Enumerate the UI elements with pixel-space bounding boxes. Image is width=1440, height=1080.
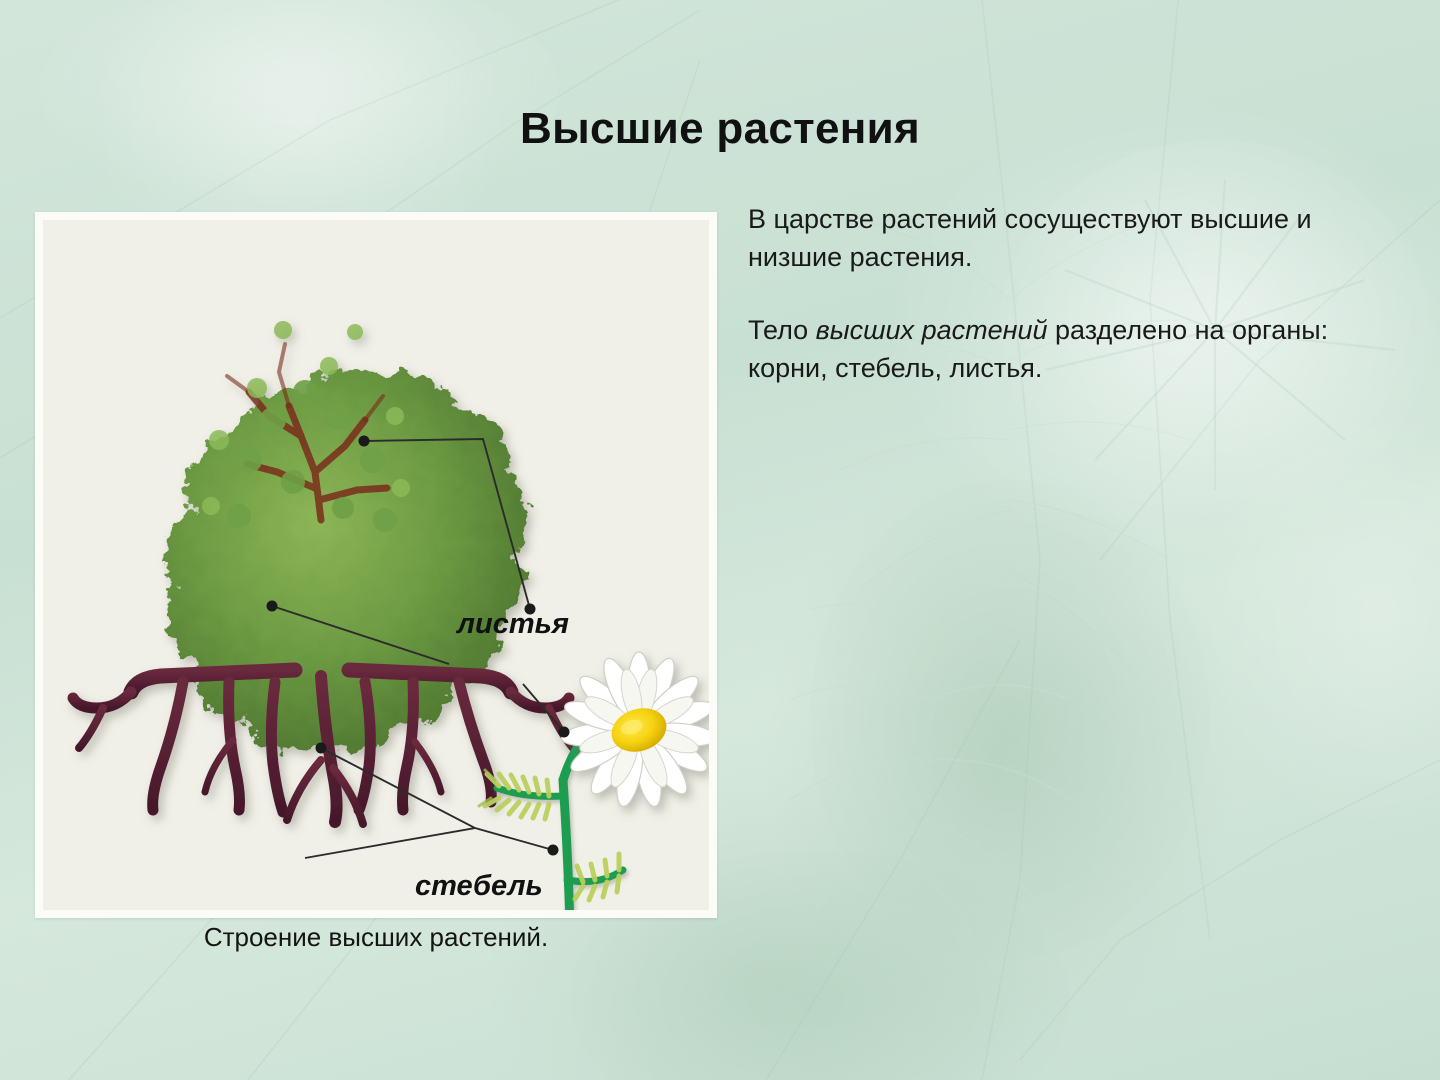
figure-label-leaves: листья [457, 608, 569, 641]
paragraph-2-emphasis: высших растений [816, 315, 1048, 345]
paragraph-1: В царстве растений сосуществуют высшие и… [748, 200, 1408, 277]
figure-panel: листья стебель корни Дуб Ромашка [35, 212, 717, 918]
slide-background: Высшие растения В царстве растений сосущ… [0, 0, 1440, 1080]
figure-caption: Строение высших растений. [35, 922, 717, 953]
figure-canvas: листья стебель корни Дуб Ромашка [43, 220, 709, 910]
figure-label-stem: стебель [415, 870, 543, 903]
higher-plants-diagram-icon [43, 220, 709, 910]
page-title: Высшие растения [0, 104, 1440, 154]
paragraph-2-before: Тело [748, 315, 816, 345]
body-text-block: В царстве растений сосуществуют высшие и… [748, 200, 1408, 421]
paragraph-2: Тело высших растений разделено на органы… [748, 311, 1408, 388]
daisy-flower-head [560, 652, 709, 809]
